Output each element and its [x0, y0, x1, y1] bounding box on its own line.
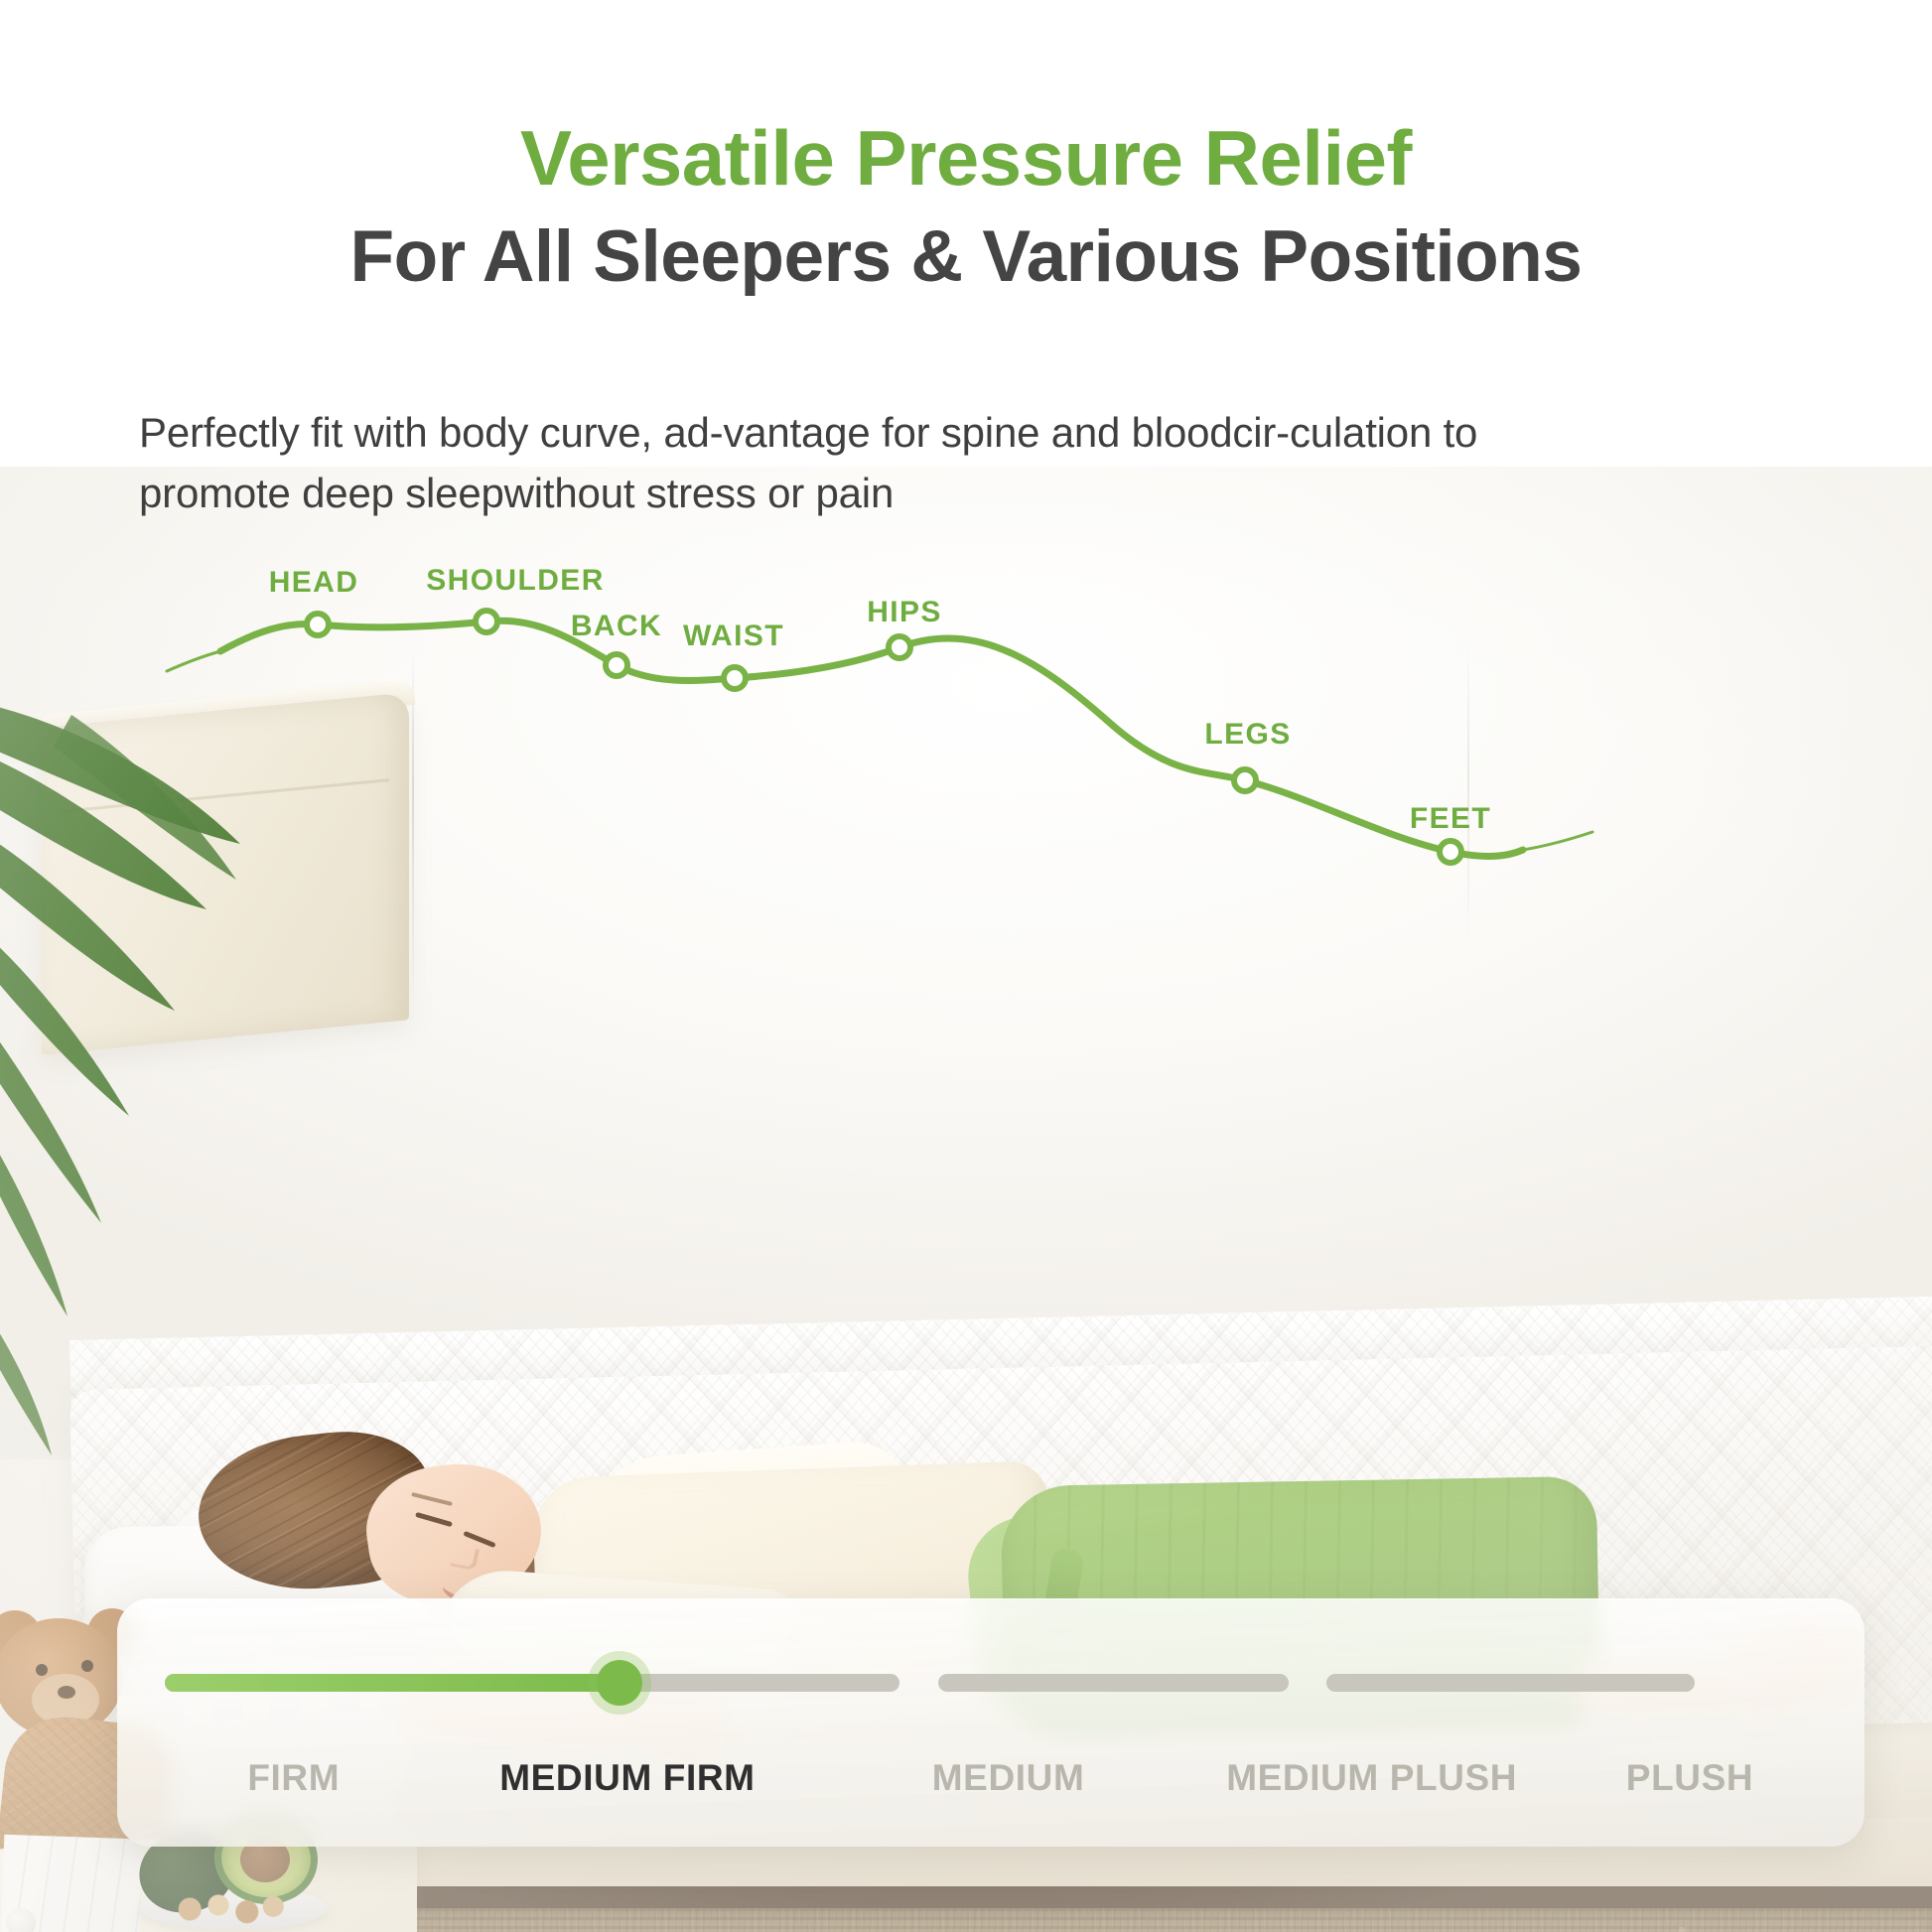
slider-track-fill	[165, 1674, 620, 1692]
subtitle-line-1: Perfectly fit with body curve, ad-vantag…	[139, 409, 1477, 456]
firmness-slider[interactable]	[165, 1670, 1817, 1696]
teddy-nose	[58, 1686, 75, 1699]
firmness-option-medium-firm[interactable]: MEDIUM FIRM	[499, 1757, 755, 1799]
carpet-grain-texture	[328, 1908, 1932, 1932]
page-title: For All Sleepers & Various Positions	[0, 220, 1932, 293]
page-title-accent: Versatile Pressure Relief	[0, 119, 1932, 197]
slider-track-segment-2[interactable]	[938, 1674, 1289, 1692]
product-infographic: Versatile Pressure Relief For All Sleepe…	[0, 0, 1932, 1932]
slider-track-segment-3[interactable]	[1326, 1674, 1695, 1692]
carpet	[328, 1908, 1932, 1932]
teddy-eye	[36, 1664, 48, 1676]
firmness-option-plush[interactable]: PLUSH	[1626, 1757, 1753, 1799]
subtitle-line-2: promote deep sleepwithout stress or pain	[139, 464, 1827, 524]
firmness-selector-panel[interactable]: FIRMMEDIUM FIRMMEDIUMMEDIUM PLUSHPLUSH	[117, 1598, 1864, 1847]
page-subtitle: Perfectly fit with body curve, ad-vantag…	[139, 403, 1827, 524]
firmness-option-medium[interactable]: MEDIUM	[932, 1757, 1085, 1799]
header: Versatile Pressure Relief For All Sleepe…	[0, 0, 1932, 516]
firmness-option-medium-plush[interactable]: MEDIUM PLUSH	[1226, 1757, 1517, 1799]
teddy-eye	[81, 1660, 93, 1672]
firmness-option-firm[interactable]: FIRM	[247, 1757, 340, 1799]
pompom	[6, 1908, 36, 1932]
firmness-labels: FIRMMEDIUM FIRMMEDIUMMEDIUM PLUSHPLUSH	[117, 1757, 1864, 1817]
slider-thumb[interactable]	[597, 1660, 642, 1706]
nuts	[171, 1892, 290, 1926]
wall-seam-secondary	[1467, 645, 1469, 943]
